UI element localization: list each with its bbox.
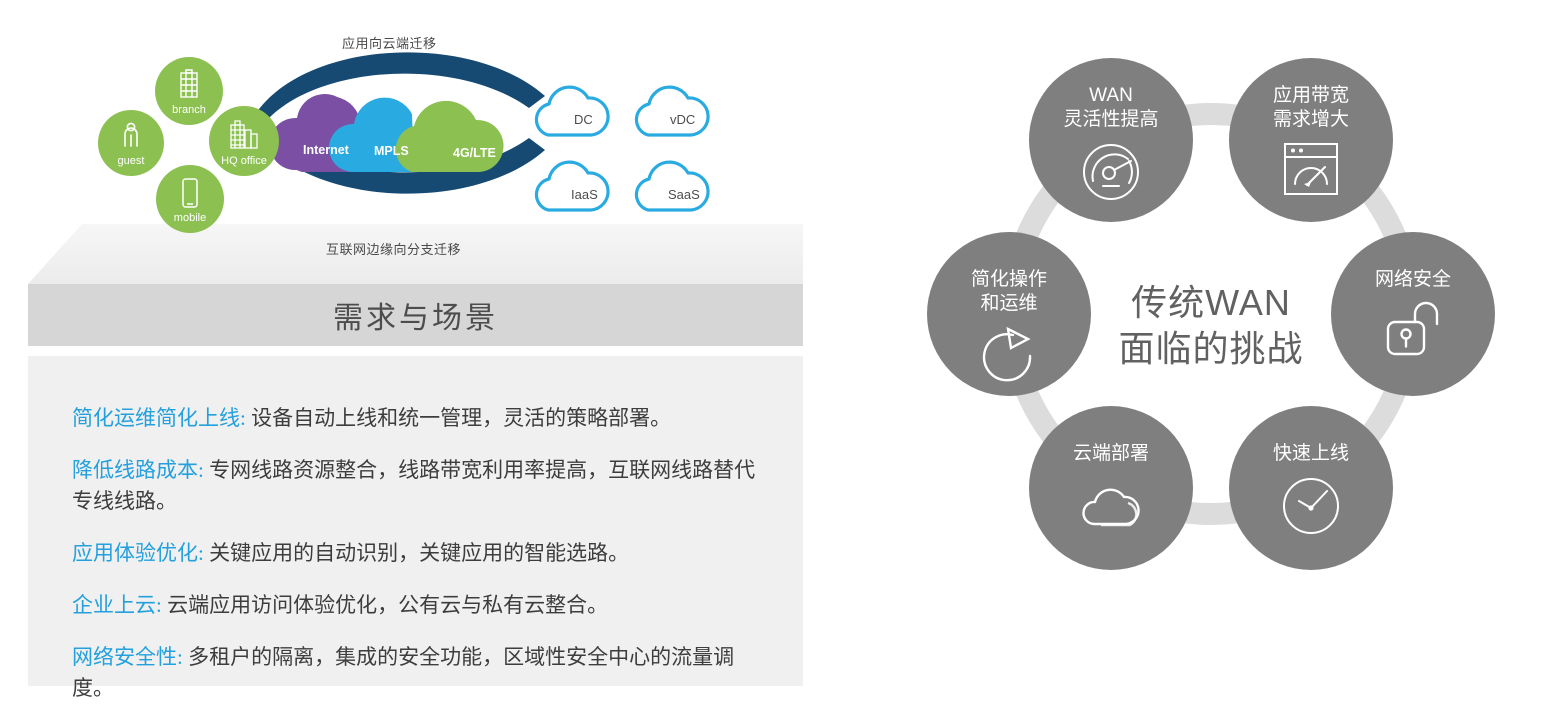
challenge-label-network-security: 网络安全 (1375, 268, 1451, 292)
left-panel: 应用向云端迁移 互联网边缘向分支迁移 Internet MPLS 4G/LTE … (0, 0, 810, 694)
endpoint-label-guest: guest (118, 155, 145, 167)
endpoint-node-guest: guest (98, 110, 164, 176)
destination-cloud-iaas-icon (536, 162, 608, 210)
challenge-bubble-simplified-ops[interactable]: 简化操作 和运维 (927, 232, 1091, 396)
challenge-label-cloud-deployment: 云端部署 (1073, 442, 1149, 466)
open-padlock-icon (1382, 300, 1444, 365)
clock-icon (1279, 474, 1343, 543)
endpoint-node-mobile: mobile (156, 165, 224, 233)
transport-cloud-4glte (396, 101, 504, 172)
endpoint-label-hq: HQ office (221, 155, 267, 167)
section-title-text: 需求与场景 (333, 293, 498, 337)
requirement-item: 降低线路成本: 专网线路资源整合，线路带宽利用率提高，互联网线路替代专线线路。 (72, 455, 759, 517)
requirement-key: 简化运维简化上线: (72, 406, 246, 430)
endpoint-label-branch: branch (172, 104, 206, 116)
city-buildings-icon (209, 118, 279, 150)
challenge-bubble-wan-flexibility[interactable]: WAN 灵活性提高 (1029, 58, 1193, 222)
endpoint-node-hq-office: HQ office (209, 106, 279, 176)
refresh-arrow-icon (977, 324, 1041, 391)
challenge-label-bandwidth-demand: 应用带宽 需求增大 (1273, 84, 1349, 132)
challenge-bubble-bandwidth-demand[interactable]: 应用带宽 需求增大 (1229, 58, 1393, 222)
challenge-label-wan-flexibility: WAN 灵活性提高 (1063, 84, 1158, 132)
requirement-text: 云端应用访问体验优化，公有云与私有云整合。 (162, 593, 608, 617)
requirement-item: 简化运维简化上线: 设备自动上线和统一管理，灵活的策略部署。 (72, 403, 759, 434)
requirement-text: 关键应用的自动识别，关键应用的智能选路。 (204, 541, 629, 565)
cloud-outline-icon (1076, 474, 1146, 535)
requirement-item: 网络安全性: 多租户的隔离，集成的安全功能，区域性安全中心的流量调度。 (72, 642, 759, 704)
challenge-bubble-network-security[interactable]: 网络安全 (1331, 232, 1495, 396)
caption-internet-edge-to-branch: 互联网边缘向分支迁移 (326, 239, 461, 258)
destination-cloud-dc-icon (536, 87, 608, 135)
endpoint-node-branch: branch (155, 57, 223, 125)
destination-cloud-vdc-icon (636, 87, 708, 135)
office-building-icon (155, 69, 223, 99)
caption-apps-to-cloud: 应用向云端迁移 (342, 33, 437, 52)
browser-gauge-icon (1280, 140, 1342, 203)
requirement-item: 应用体验优化: 关键应用的自动识别，关键应用的智能选路。 (72, 538, 759, 569)
requirement-key: 应用体验优化: (72, 541, 204, 565)
section-title-bar: 需求与场景 (28, 284, 803, 346)
smartphone-icon (156, 177, 224, 209)
requirement-key: 企业上云: (72, 593, 162, 617)
requirement-key: 网络安全性: (72, 645, 183, 669)
challenge-bubble-fast-online[interactable]: 快速上线 (1229, 406, 1393, 570)
wheel-center-title: 传统WAN 面临的挑战 (1080, 280, 1342, 372)
person-icon (98, 122, 164, 150)
speedometer-icon (1079, 140, 1143, 209)
destination-cloud-saas-icon (636, 162, 708, 210)
challenge-label-simplified-ops: 简化操作 和运维 (971, 268, 1047, 316)
endpoint-label-mobile: mobile (174, 212, 206, 224)
requirement-item: 企业上云: 云端应用访问体验优化，公有云与私有云整合。 (72, 590, 759, 621)
requirement-key: 降低线路成本: (72, 458, 204, 482)
challenge-bubble-cloud-deployment[interactable]: 云端部署 (1029, 406, 1193, 570)
right-panel: WAN 灵活性提高 应用带宽 需求增大 (900, 0, 1547, 694)
requirements-panel: 简化运维简化上线: 设备自动上线和统一管理，灵活的策略部署。 降低线路成本: 专… (28, 356, 803, 686)
requirement-text: 设备自动上线和统一管理，灵活的策略部署。 (246, 406, 671, 430)
challenge-label-fast-online: 快速上线 (1273, 442, 1349, 466)
